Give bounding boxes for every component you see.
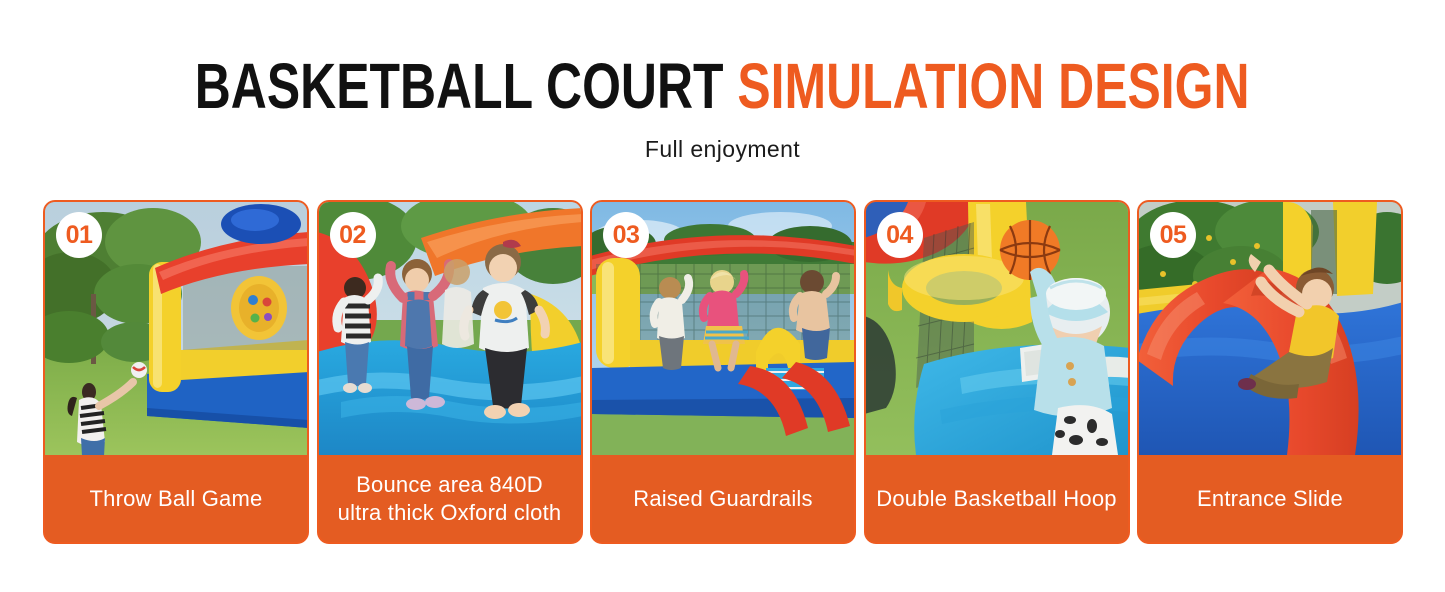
card-caption-text-05: Entrance Slide — [1197, 485, 1343, 513]
card-caption-04: Double Basketball Hoop — [866, 455, 1128, 542]
card-caption-02: Bounce area 840D ultra thick Oxford clot… — [319, 455, 581, 542]
card-badge-02: 02 — [330, 212, 376, 258]
card-badge-05: 05 — [1150, 212, 1196, 258]
feature-card-03[interactable]: 03 Raised Guardrails — [590, 200, 856, 544]
feature-photo-05: 05 — [1139, 202, 1401, 455]
feature-card-list: 01 Throw Ball Game — [43, 200, 1403, 544]
feature-photo-01: 01 — [45, 202, 307, 455]
feature-photo-03: 03 — [592, 202, 854, 455]
page-subtitle: Full enjoyment — [0, 136, 1445, 163]
title-dark-part: BASKETBALL COURT — [195, 50, 724, 122]
card-caption-01: Throw Ball Game — [45, 455, 307, 542]
card-caption-text-02: Bounce area 840D ultra thick Oxford clot… — [338, 471, 562, 527]
feature-photo-04: 04 — [866, 202, 1128, 455]
feature-card-04[interactable]: 04 Double Basketball Hoop — [864, 200, 1130, 544]
feature-photo-02: 02 — [319, 202, 581, 455]
title-accent-part: SIMULATION DESIGN — [738, 50, 1250, 122]
feature-card-01[interactable]: 01 Throw Ball Game — [43, 200, 309, 544]
card-caption-03: Raised Guardrails — [592, 455, 854, 542]
card-badge-03: 03 — [603, 212, 649, 258]
card-caption-text-03: Raised Guardrails — [633, 485, 812, 513]
feature-card-05[interactable]: 05 Entrance Slide — [1137, 200, 1403, 544]
infographic-page: BASKETBALL COURT SIMULATION DESIGN Full … — [0, 0, 1445, 592]
card-caption-text-01: Throw Ball Game — [90, 485, 263, 513]
page-title: BASKETBALL COURT SIMULATION DESIGN — [0, 54, 1445, 118]
card-badge-04: 04 — [877, 212, 923, 258]
feature-card-02[interactable]: 02 Bounce area 840D ultra thick Oxford c… — [317, 200, 583, 544]
card-caption-05: Entrance Slide — [1139, 455, 1401, 542]
card-caption-text-04: Double Basketball Hoop — [876, 485, 1116, 513]
card-badge-01: 01 — [56, 212, 102, 258]
